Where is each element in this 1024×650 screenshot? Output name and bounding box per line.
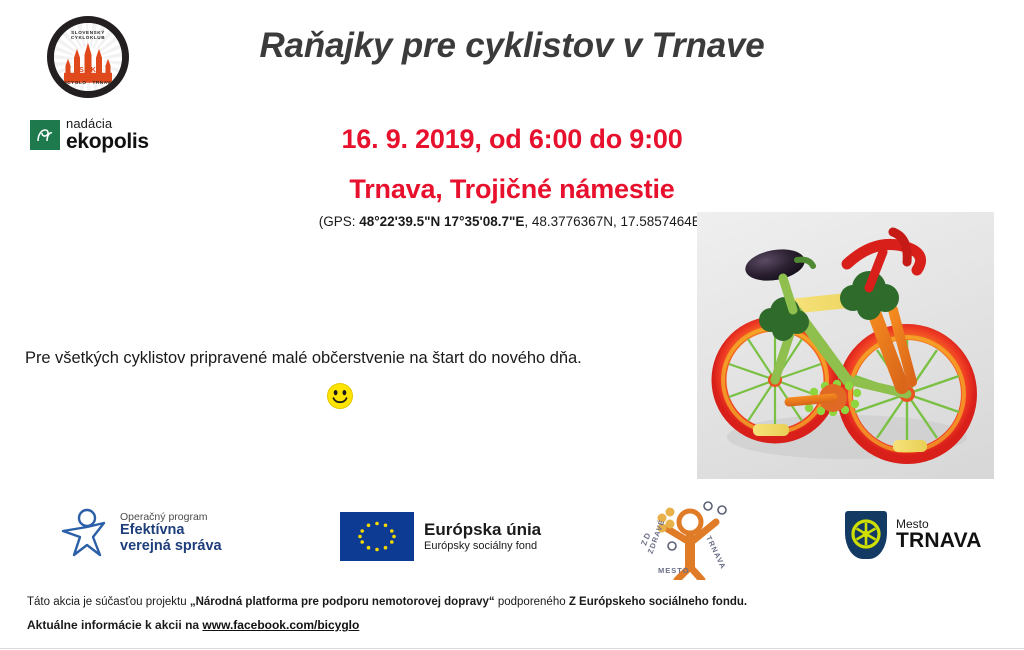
funding-part1: Táto akcia je súčasťou projektu <box>27 596 190 608</box>
star-person-icon <box>60 505 112 561</box>
opevs-line2: Efektívna <box>120 523 222 538</box>
body-text: Pre všetkých cyklistov pripravené malé o… <box>25 349 582 368</box>
funding-fund-name: Z Európskeho sociálneho fondu. <box>569 596 747 608</box>
europska-unia-logo: Európska únia Európsky sociálny fond <box>340 512 541 561</box>
eu-flag-icon <box>340 512 414 561</box>
gps-dms: 48°22'39.5"N 17°35'08.7"E <box>359 214 524 229</box>
page-bottom-rule <box>0 648 1024 649</box>
healthy-city-word-bottom: MESTO <box>658 566 690 575</box>
eu-stars-icon <box>340 512 414 561</box>
event-location: Trnava, Trojičné námestie <box>0 174 1024 205</box>
vegetable-bicycle-illustration <box>697 212 994 479</box>
facebook-note: Aktuálne informácie k akcii na www.faceb… <box>27 618 359 632</box>
funding-part2: podporeného <box>495 596 569 608</box>
funding-project-name: „Národná platforma pre podporu nemotorov… <box>190 596 495 608</box>
eu-title: Európska únia <box>424 520 541 540</box>
opevs-wordmark: Operačný program Efektívna verejná správ… <box>120 512 222 553</box>
roundel-arc-bottom-text: BICYGLO · TRNAVA <box>54 80 122 85</box>
eu-wordmark: Európska únia Európsky sociálny fond <box>424 520 541 552</box>
event-datetime: 16. 9. 2019, od 6:00 do 9:00 <box>0 124 1024 155</box>
facebook-label: Aktuálne informácie k akcii na <box>27 618 202 632</box>
smiley-face-icon <box>326 382 354 410</box>
zdrave-mesto-trnava-logo: Z D ZDRAVÉ MESTO TRNAVA <box>632 492 740 580</box>
page-title: Raňajky pre cyklistov v Trnave <box>0 26 1024 66</box>
trnava-wordmark: Mesto TRNAVA <box>896 518 982 553</box>
gps-suffix: , 48.3776367N, 17.5857464E) <box>524 214 705 229</box>
trnava-wheel-icon <box>845 511 887 559</box>
facebook-link[interactable]: www.facebook.com/bicyglo <box>202 618 359 632</box>
crank-arm <box>789 398 833 402</box>
eu-subtitle: Európsky sociálny fond <box>424 540 541 553</box>
trnava-shield-icon <box>845 511 887 559</box>
trnava-line2: TRNAVA <box>896 530 982 552</box>
vegetable-bicycle-photo <box>697 212 994 479</box>
funding-note: Táto akcia je súčasťou projektu „Národná… <box>27 596 747 608</box>
mesto-trnava-logo: Mesto TRNAVA <box>845 511 982 559</box>
poster-canvas: SLOVENSKÝ CYKLOKLUB SCK BICYGLO · TRNAVA… <box>0 0 1024 650</box>
opevs-line3: verejná správa <box>120 539 222 554</box>
operacny-program-efektivna-verejna-sprava-logo: Operačný program Efektívna verejná správ… <box>60 505 222 561</box>
roundel-mark-text: SCK <box>54 67 122 74</box>
eggplant-saddle <box>743 245 807 285</box>
corn-pedal <box>893 440 927 452</box>
gps-prefix: (GPS: <box>319 214 360 229</box>
